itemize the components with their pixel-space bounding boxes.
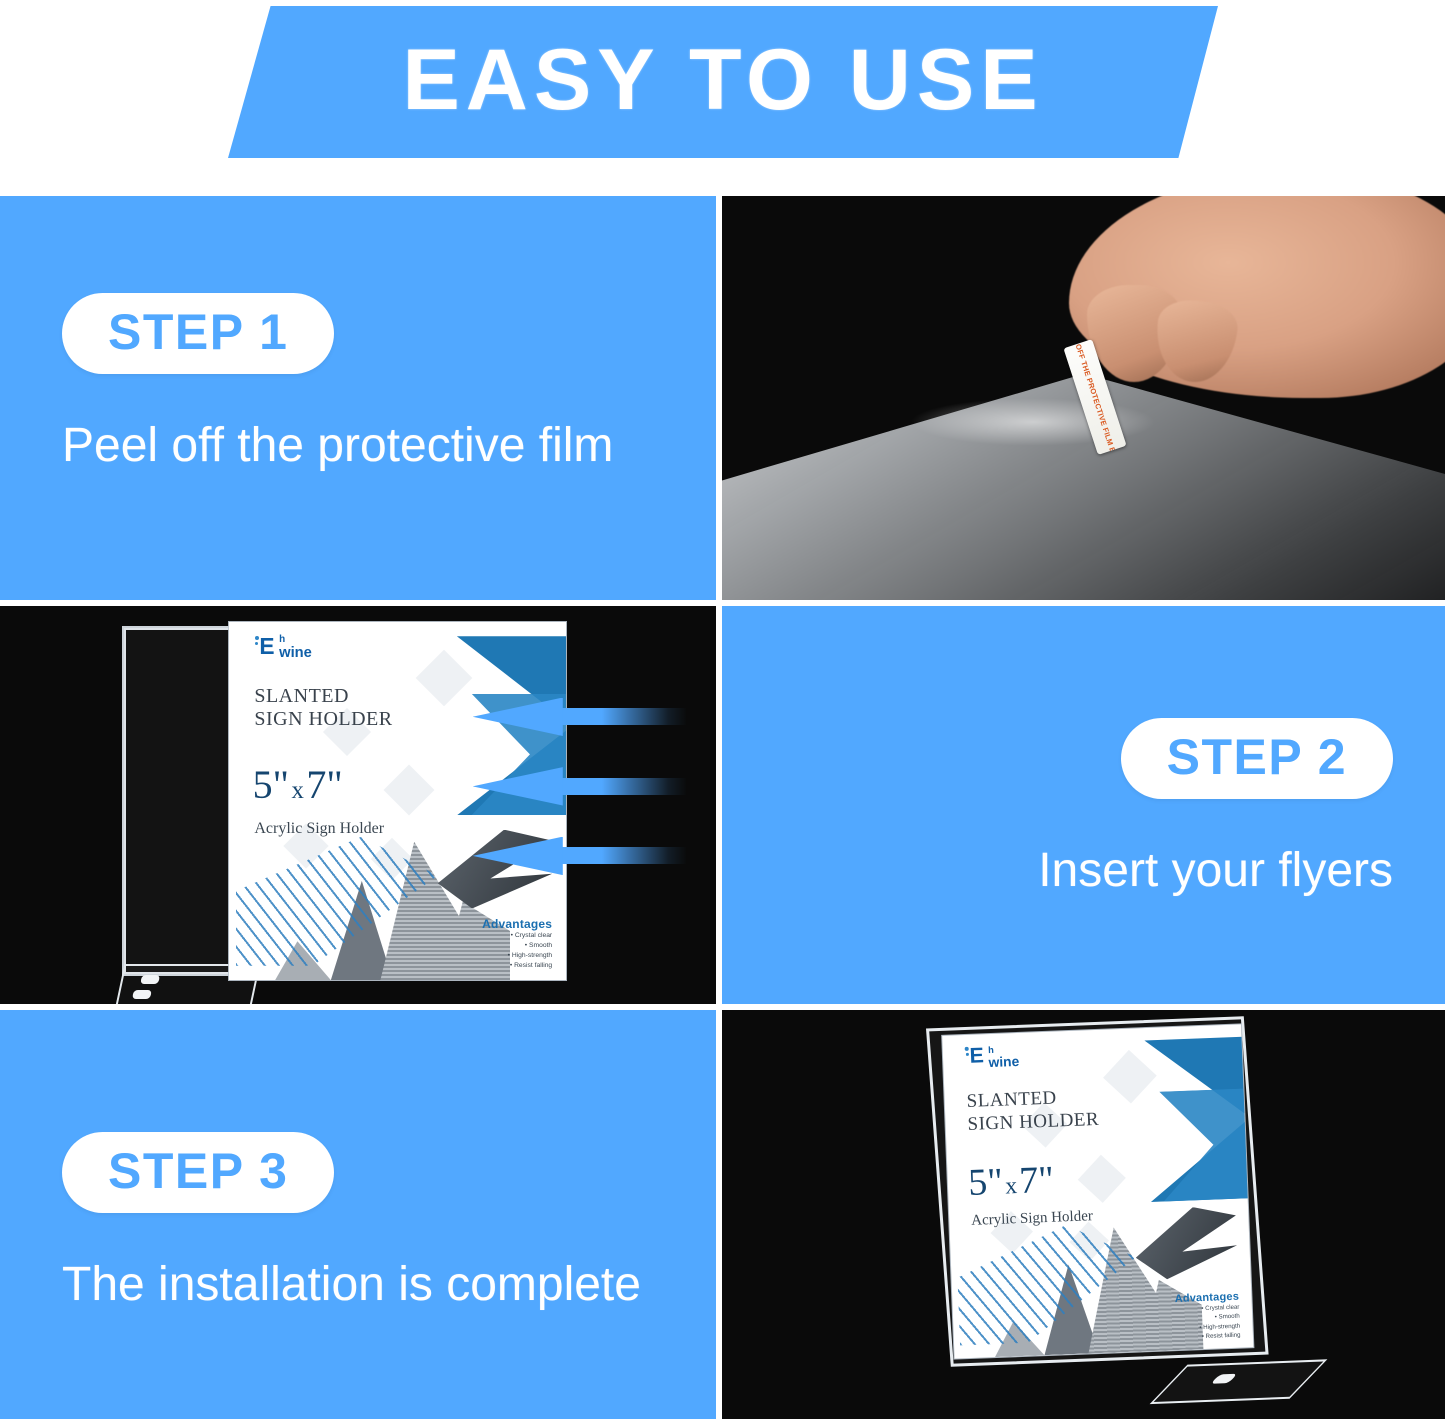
- flyer-logo: E h wine: [254, 634, 312, 661]
- flyer-advantages-title: Advantages: [482, 918, 552, 931]
- flyer-diamond-3: [383, 765, 434, 816]
- flyer-advantages-list: • Crystal clear • Smooth • High-strength…: [1175, 1303, 1241, 1342]
- step-3-photo-panel: E h wine SLANTED SIGN HOLDER: [722, 1010, 1445, 1419]
- logo-text-h: h: [279, 635, 312, 645]
- step-1-pill: STEP 1: [62, 293, 334, 374]
- flyer-subtitle: Acrylic Sign Holder: [254, 821, 384, 837]
- arrow-head: [473, 837, 563, 875]
- infographic-page: EASY TO USE STEP 1 Peel off the protecti…: [0, 0, 1445, 1419]
- photo-insert-flyer: E h wine SLANTED SIGN HOLDER 5"x7": [0, 606, 716, 1004]
- flyer-diamond-3: [1078, 1155, 1126, 1203]
- flyer-size-height: 7": [306, 762, 342, 807]
- flyer-advantages: Advantages • Crystal clear • Smooth • Hi…: [1174, 1291, 1240, 1342]
- flyer-heading-line-1: SLANTED: [254, 685, 349, 707]
- step-2-text-panel: STEP 2 Insert your flyers: [722, 606, 1445, 1004]
- steps-grid: STEP 1 Peel off the protective film PLEA…: [0, 196, 1445, 1419]
- insert-direction-arrows: [473, 698, 688, 881]
- step-2-caption: Insert your flyers: [1038, 843, 1393, 898]
- step-1-pill-label: STEP 1: [108, 307, 288, 357]
- step-1-photo-panel: PLEASE TEAR OFF THE PROTECTIVE FILM BEFO…: [722, 196, 1445, 600]
- photo-hand-peeling-film: PLEASE TEAR OFF THE PROTECTIVE FILM BEFO…: [722, 196, 1445, 600]
- flyer-advantages-list: • Crystal clear • Smooth • High-strength…: [482, 931, 552, 971]
- logo-text-wine: wine: [279, 646, 312, 661]
- assembled-sign-holder: E h wine SLANTED SIGN HOLDER: [932, 1016, 1264, 1404]
- arrow-shaft: [554, 708, 687, 725]
- logo-dot-1: [965, 1047, 969, 1051]
- arrow-shaft: [554, 847, 687, 864]
- flyer-heading: SLANTED SIGN HOLDER: [254, 685, 392, 732]
- flyer-logo: E h wine: [964, 1044, 1019, 1071]
- flyer-heading-line-2: SIGN HOLDER: [254, 708, 392, 730]
- step-2-photo-panel: E h wine SLANTED SIGN HOLDER 5"x7": [0, 606, 716, 1004]
- photo-assembled-holder: E h wine SLANTED SIGN HOLDER: [722, 1010, 1445, 1419]
- flyer-advantage-item: • Crystal clear: [482, 931, 552, 941]
- flyer-diamond-1: [1103, 1050, 1157, 1104]
- base-slot-2: [132, 990, 152, 999]
- holder-foot: [1150, 1360, 1327, 1404]
- step-3-text-panel: STEP 3 The installation is complete: [0, 1010, 716, 1419]
- flyer-size-width: 5": [253, 762, 289, 807]
- step-2-block: STEP 2 Insert your flyers: [1038, 718, 1393, 898]
- flyer-diamond-1: [416, 649, 473, 706]
- flyer-advantage-item: • High-strength: [482, 951, 552, 961]
- step-1-text-panel: STEP 1 Peel off the protective film: [0, 196, 716, 600]
- flyer-heading-line-2: SIGN HOLDER: [967, 1109, 1099, 1135]
- arrow-shaft: [554, 778, 687, 795]
- header-banner: EASY TO USE: [228, 6, 1218, 158]
- flyer-advantages: Advantages • Crystal clear • Smooth • Hi…: [482, 918, 552, 972]
- logo-letter-e: E: [259, 635, 274, 658]
- logo-letter-e: E: [969, 1045, 984, 1067]
- logo-wordmark: h wine: [988, 1044, 1020, 1070]
- logo-dot-1: [255, 636, 259, 640]
- logo-e-icon: E: [964, 1045, 987, 1068]
- step-2-pill-label: STEP 2: [1167, 732, 1347, 782]
- logo-dot-2: [255, 642, 258, 645]
- arrow-head: [473, 698, 563, 736]
- flyer-heading-line-1: SLANTED: [966, 1088, 1057, 1112]
- step-1-block: STEP 1 Peel off the protective film: [62, 293, 613, 473]
- flyer-size: 5"x7": [253, 765, 343, 805]
- flyer-size-height: 7": [1018, 1159, 1054, 1202]
- flyer-size-x: x: [289, 777, 306, 804]
- arrow-left-icon: [473, 837, 688, 875]
- base-slot-1: [141, 975, 161, 984]
- arrow-left-icon: [473, 698, 688, 736]
- page-title: EASY TO USE: [402, 37, 1043, 123]
- step-3-pill-label: STEP 3: [108, 1146, 288, 1196]
- flyer-size-width: 5": [967, 1161, 1003, 1204]
- logo-text-wine: wine: [988, 1055, 1019, 1070]
- arrow-left-icon: [473, 767, 688, 805]
- step-3-pill: STEP 3: [62, 1132, 334, 1213]
- step-2-pill: STEP 2: [1121, 718, 1393, 799]
- flyer-advantage-item: • Resist falling: [482, 961, 552, 971]
- foot-slot: [1210, 1374, 1237, 1384]
- flyer-advantage-item: • Smooth: [482, 941, 552, 951]
- flyer-size: 5"x7": [967, 1161, 1054, 1202]
- arrow-head: [473, 767, 563, 805]
- step-3-block: STEP 3 The installation is complete: [62, 1132, 641, 1312]
- logo-wordmark: h wine: [279, 634, 312, 661]
- flyer-heading: SLANTED SIGN HOLDER: [966, 1086, 1099, 1136]
- logo-e-icon: E: [254, 634, 277, 657]
- header-banner-area: EASY TO USE: [0, 0, 1445, 196]
- logo-dot-2: [965, 1053, 968, 1056]
- flyer-size-x: x: [1002, 1173, 1019, 1200]
- step-1-caption: Peel off the protective film: [62, 418, 613, 473]
- flyer-artwork: E h wine SLANTED SIGN HOLDER: [942, 1024, 1253, 1359]
- step-3-caption: The installation is complete: [62, 1257, 641, 1312]
